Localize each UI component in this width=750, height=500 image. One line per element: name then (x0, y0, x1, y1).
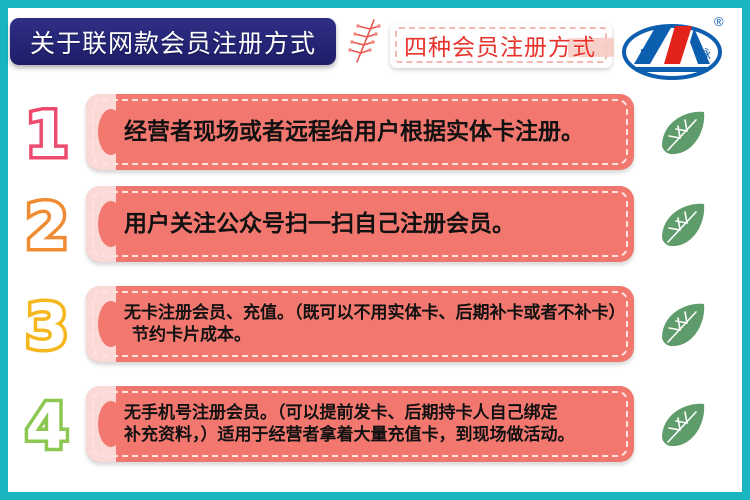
page-title: 关于联网款会员注册方式 (30, 24, 316, 60)
card-text: 无手机号注册会员。（可以提前发卡、后期持卡人自己绑定 补充资料，）适用于经营者拿… (124, 386, 618, 462)
leaf-icon (656, 106, 710, 160)
subtitle-plate: 四种会员注册方式 (390, 22, 612, 68)
row-card[interactable]: 无手机号注册会员。（可以提前发卡、后期持卡人自己绑定 补充资料，）适用于经营者拿… (86, 386, 634, 462)
card-tab (86, 94, 116, 170)
row-number-3: 3 (25, 290, 68, 363)
row-card[interactable]: 无卡注册会员、充值。（既可以不用实体卡、后期补卡或者不补卡） 节约卡片成本。 (86, 286, 634, 362)
row-number-badge: 3 (16, 282, 78, 366)
card-text: 用户关注公众号扫一扫自己注册会员。 (124, 186, 618, 262)
card-text: 无卡注册会员、充值。（既可以不用实体卡、后期补卡或者不补卡） 节约卡片成本。 (124, 286, 618, 362)
leaf-icon (656, 398, 710, 452)
branch-decoration-icon (348, 16, 386, 70)
list-item[interactable]: 2 用户关注公众号扫一扫自己注册会员。 (8, 182, 742, 266)
card-line: 节约卡片成本。 (124, 324, 251, 346)
card-text: 经营者现场或者远程给用户根据实体卡注册。 (124, 94, 618, 170)
svg-text:宇: 宇 (640, 47, 653, 62)
card-tab (86, 286, 116, 362)
row-card[interactable]: 用户关注公众号扫一扫自己注册会员。 (86, 186, 634, 262)
row-card[interactable]: 经营者现场或者远程给用户根据实体卡注册。 (86, 94, 634, 170)
yumai-brand-logo: 宇 脉 ® (620, 12, 730, 86)
list-item[interactable]: 1 经营者现场或者远程给用户根据实体卡注册。 (8, 90, 742, 174)
leaf-icon (656, 198, 710, 252)
svg-text:®: ® (714, 14, 724, 29)
svg-text:脉: 脉 (698, 47, 711, 62)
card-tab (86, 186, 116, 262)
row-number-badge: 1 (16, 90, 78, 174)
header: 关于联网款会员注册方式 (8, 8, 742, 90)
row-number-1: 1 (25, 98, 68, 171)
subtitle-text: 四种会员注册方式 (390, 22, 612, 68)
page-title-plate: 关于联网款会员注册方式 (10, 18, 336, 65)
row-number-2: 2 (25, 190, 68, 263)
card-line: 无卡注册会员、充值。（既可以不用实体卡、后期补卡或者不补卡） (124, 302, 626, 324)
card-line: 补充资料，）适用于经营者拿着大量充值卡，到现场做活动。 (124, 424, 575, 446)
poster-root: 关于联网款会员注册方式 (0, 0, 750, 500)
row-number-badge: 4 (16, 382, 78, 466)
leaf-icon (656, 298, 710, 352)
white-panel: 关于联网款会员注册方式 (8, 8, 742, 492)
card-line: 无手机号注册会员。（可以提前发卡、后期持卡人自己绑定 (124, 402, 558, 424)
rows-container: 1 经营者现场或者远程给用户根据实体卡注册。 (8, 90, 742, 492)
row-number-badge: 2 (16, 182, 78, 266)
card-tab (86, 386, 116, 462)
list-item[interactable]: 3 无卡注册会员、充值。（既可以不用实体卡、后期补卡或者不补卡） 节约卡片成本。 (8, 282, 742, 366)
row-number-4: 4 (25, 390, 68, 463)
card-line: 经营者现场或者远程给用户根据实体卡注册。 (124, 117, 584, 147)
list-item[interactable]: 4 无手机号注册会员。（可以提前发卡、后期持卡人自己绑定 补充资料，）适用于经营… (8, 382, 742, 466)
card-line: 用户关注公众号扫一扫自己注册会员。 (124, 209, 515, 239)
